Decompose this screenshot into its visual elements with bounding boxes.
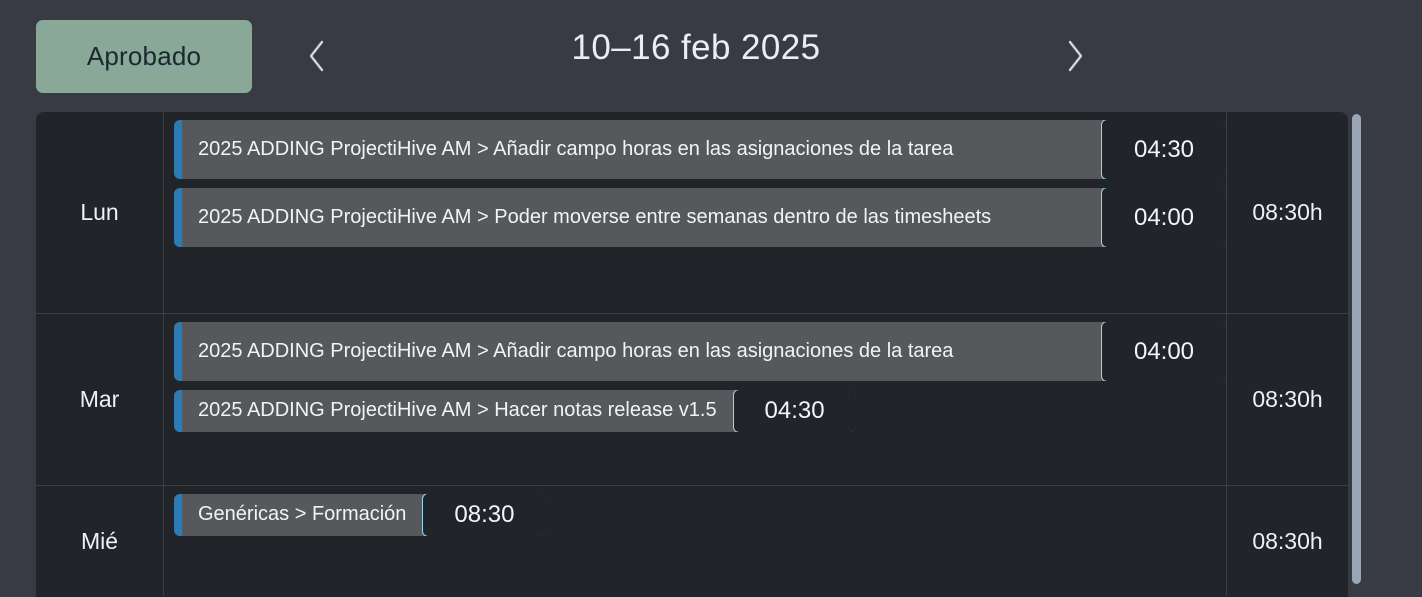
entry-accent-bar bbox=[174, 322, 182, 381]
entry-duration-field[interactable]: 04:00 bbox=[1101, 322, 1226, 381]
entry-accent-bar bbox=[174, 188, 182, 247]
day-total: 08:30h bbox=[1226, 112, 1348, 313]
entry-duration-field[interactable]: 08:30 bbox=[422, 494, 545, 536]
entry-task-label: Genéricas > Formación bbox=[182, 494, 422, 536]
vertical-scrollbar[interactable] bbox=[1352, 112, 1361, 597]
timesheet-entry[interactable]: Genéricas > Formación08:30 bbox=[174, 494, 545, 536]
week-range-title: 10–16 feb 2025 bbox=[396, 28, 996, 68]
entry-task-label: 2025 ADDING ProjectiHive AM > Poder move… bbox=[182, 188, 1101, 247]
chevron-right-icon bbox=[1064, 39, 1086, 73]
timesheet-entry[interactable]: 2025 ADDING ProjectiHive AM > Poder move… bbox=[174, 188, 1226, 247]
day-entry-list: Genéricas > Formación08:30 bbox=[164, 486, 1226, 596]
timesheet-entry[interactable]: 2025 ADDING ProjectiHive AM > Añadir cam… bbox=[174, 120, 1226, 179]
entry-accent-bar bbox=[174, 494, 182, 536]
timesheet-grid: Lun2025 ADDING ProjectiHive AM > Añadir … bbox=[36, 112, 1348, 597]
day-entry-list: 2025 ADDING ProjectiHive AM > Añadir cam… bbox=[164, 314, 1226, 485]
day-row: Mar2025 ADDING ProjectiHive AM > Añadir … bbox=[36, 314, 1348, 486]
entry-duration-field[interactable]: 04:30 bbox=[1101, 120, 1226, 179]
timesheet-entry[interactable]: 2025 ADDING ProjectiHive AM > Hacer nota… bbox=[174, 390, 856, 432]
day-total: 08:30h bbox=[1226, 314, 1348, 485]
timesheet-scroll-area: Lun2025 ADDING ProjectiHive AM > Añadir … bbox=[36, 112, 1348, 597]
previous-week-button[interactable] bbox=[294, 33, 340, 79]
status-badge-label: Aprobado bbox=[87, 41, 201, 72]
entry-task-label: 2025 ADDING ProjectiHive AM > Añadir cam… bbox=[182, 322, 1101, 381]
entry-task-label: 2025 ADDING ProjectiHive AM > Añadir cam… bbox=[182, 120, 1101, 179]
timesheet-header: Aprobado 10–16 feb 2025 bbox=[0, 0, 1422, 112]
day-row: MiéGenéricas > Formación08:3008:30h bbox=[36, 486, 1348, 596]
entry-duration-field[interactable]: 04:30 bbox=[733, 390, 856, 432]
status-badge[interactable]: Aprobado bbox=[36, 20, 252, 93]
day-entry-list: 2025 ADDING ProjectiHive AM > Añadir cam… bbox=[164, 112, 1226, 313]
timesheet-entry[interactable]: 2025 ADDING ProjectiHive AM > Añadir cam… bbox=[174, 322, 1226, 381]
day-row: Lun2025 ADDING ProjectiHive AM > Añadir … bbox=[36, 112, 1348, 314]
next-week-button[interactable] bbox=[1052, 33, 1098, 79]
entry-accent-bar bbox=[174, 390, 182, 432]
chevron-left-icon bbox=[306, 39, 328, 73]
day-label: Lun bbox=[36, 112, 164, 313]
day-label: Mar bbox=[36, 314, 164, 485]
entry-accent-bar bbox=[174, 120, 182, 179]
day-label: Mié bbox=[36, 486, 164, 596]
vertical-scrollbar-thumb[interactable] bbox=[1352, 114, 1361, 584]
day-total: 08:30h bbox=[1226, 486, 1348, 596]
entry-duration-field[interactable]: 04:00 bbox=[1101, 188, 1226, 247]
entry-task-label: 2025 ADDING ProjectiHive AM > Hacer nota… bbox=[182, 390, 733, 432]
